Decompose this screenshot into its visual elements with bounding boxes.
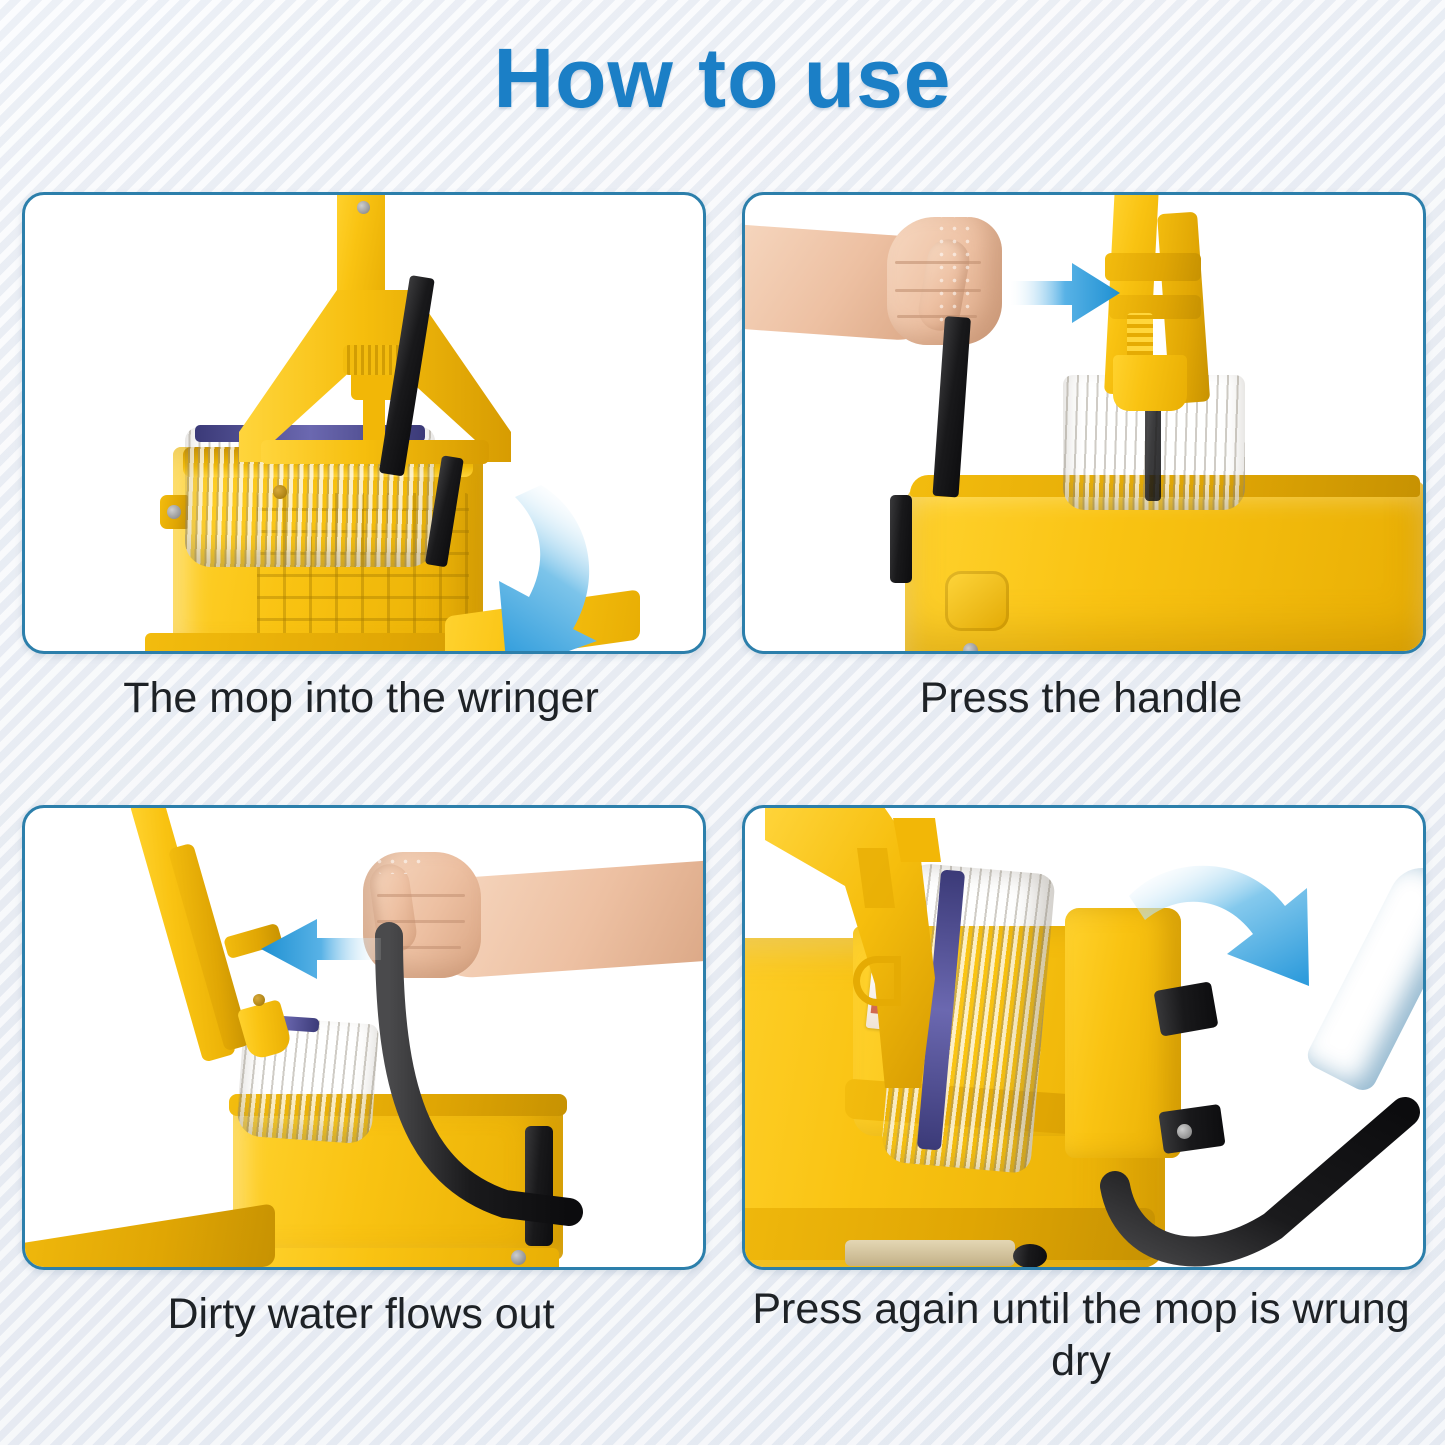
step-panel-3 bbox=[22, 805, 706, 1270]
clamp-rivet bbox=[273, 485, 287, 499]
step-panel-2 bbox=[742, 192, 1426, 654]
step-2-illustration bbox=[745, 195, 1423, 651]
step-panel-1 bbox=[22, 192, 706, 654]
arrow-curved-down-left-icon bbox=[445, 477, 620, 654]
bucket-foot-plate bbox=[845, 1240, 1015, 1266]
step-3-illustration bbox=[25, 808, 703, 1267]
bucket-bolt bbox=[963, 643, 978, 654]
arrow-left-icon bbox=[261, 916, 381, 982]
clamp-collar-lower bbox=[1109, 295, 1201, 319]
step-1-illustration bbox=[25, 195, 703, 651]
step-4-caption: Press again until the mop is wrung dry bbox=[742, 1283, 1420, 1388]
press-hook bbox=[853, 956, 901, 1006]
press-handle-bar bbox=[355, 936, 585, 1266]
step-panel-4 bbox=[742, 805, 1426, 1270]
caster-wheel bbox=[1013, 1244, 1047, 1268]
bucket-bracket bbox=[890, 495, 912, 583]
how-to-use-infographic: How to use bbox=[0, 0, 1445, 1445]
mop-handle-grip bbox=[935, 209, 977, 329]
step-2-caption: Press the handle bbox=[742, 672, 1420, 724]
bucket-screw bbox=[167, 505, 181, 519]
bucket-drain-cap bbox=[945, 571, 1009, 631]
clamp-jaw bbox=[1113, 355, 1187, 411]
page-title: How to use bbox=[0, 34, 1445, 122]
bucket-skirt bbox=[22, 1203, 275, 1270]
arrow-curved-down-right-icon bbox=[1123, 858, 1323, 1018]
press-handle-grip bbox=[373, 816, 421, 874]
finger-crease-1 bbox=[377, 894, 465, 897]
press-handle-bar bbox=[1105, 1058, 1426, 1270]
clamp-top-screw bbox=[357, 201, 370, 214]
mop-wringer-clamp-frame bbox=[225, 290, 525, 470]
step-4-illustration bbox=[745, 808, 1423, 1267]
arrow-right-icon bbox=[1010, 261, 1120, 325]
step-1-caption: The mop into the wringer bbox=[22, 672, 700, 724]
clamp-rivet bbox=[253, 994, 265, 1006]
step-3-caption: Dirty water flows out bbox=[22, 1288, 700, 1340]
